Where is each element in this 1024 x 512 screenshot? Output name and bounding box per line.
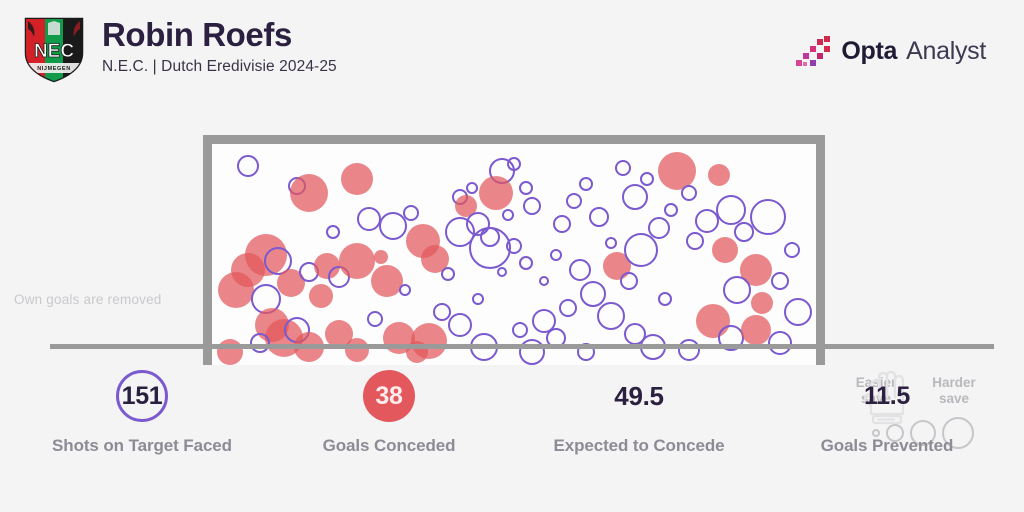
shot-bubble-save — [615, 160, 631, 176]
shot-bubble-save — [553, 215, 571, 233]
shot-bubble-save — [512, 322, 528, 338]
shot-bubble-save — [357, 207, 381, 231]
shot-bubble-save — [734, 222, 754, 242]
goalkeeper-shot-map-infographic: NEC NIJMEGEN Robin Roefs N.E.C. | Dutch … — [0, 0, 1024, 512]
shot-bubble-save — [664, 203, 678, 217]
shot-bubble-save — [784, 242, 800, 258]
stat-value: 49.5 — [614, 381, 663, 412]
shot-bubble-save — [716, 195, 746, 225]
shot-bubble-goal — [374, 250, 388, 264]
shot-bubble-save — [640, 172, 654, 186]
page-title: Robin Roefs — [102, 16, 337, 54]
stat-ring-badge: 151 — [116, 370, 168, 422]
shot-bubble-save — [367, 311, 383, 327]
shot-bubble-goal — [479, 176, 513, 210]
stat-card-3: 11.5Goals Prevented — [727, 368, 1024, 456]
shot-bubble-goal — [309, 284, 333, 308]
shot-bubble-save — [441, 267, 455, 281]
nec-nijmegen-crest-icon: NEC NIJMEGEN — [22, 13, 86, 83]
shot-bubble-save — [448, 313, 472, 337]
shot-bubble-save — [768, 331, 792, 355]
shot-bubble-save — [326, 225, 340, 239]
shot-bubble-save — [480, 227, 500, 247]
shot-bubble-save — [250, 333, 270, 353]
stat-value-wrap: 11.5 — [727, 368, 1024, 424]
summary-stats-row: 151Shots on Target Faced38Goals Conceded… — [0, 368, 1024, 478]
title-block: Robin Roefs N.E.C. | Dutch Eredivisie 20… — [102, 16, 337, 77]
shot-bubble-save — [539, 276, 549, 286]
shot-bubble-save — [605, 237, 617, 249]
svg-text:NIJMEGEN: NIJMEGEN — [37, 66, 71, 72]
shot-bubble-goal — [658, 152, 696, 190]
shot-bubble-save — [589, 207, 609, 227]
shot-bubble-goal — [371, 265, 403, 297]
shot-bubble-save — [784, 298, 812, 326]
shot-bubble-save — [550, 249, 562, 261]
shot-bubble-save — [569, 259, 591, 281]
shot-bubble-save — [771, 272, 789, 290]
shot-bubble-save — [681, 185, 697, 201]
analyst-wordmark: Analyst — [906, 37, 986, 66]
goal-frame — [203, 135, 825, 365]
shot-bubble-goal — [345, 338, 369, 362]
shot-bubble-save — [658, 292, 672, 306]
shot-bubble-save — [580, 281, 606, 307]
shot-bubble-save — [678, 339, 700, 361]
team-competition-subtitle: N.E.C. | Dutch Eredivisie 2024-25 — [102, 57, 337, 77]
shot-bubble-save — [445, 217, 475, 247]
shot-bubble-save — [686, 232, 704, 250]
shot-bubble-save — [523, 197, 541, 215]
shot-bubble-goal — [290, 174, 328, 212]
stat-value: 11.5 — [864, 382, 910, 411]
shot-bubble-goal — [411, 323, 447, 359]
shot-bubble-save — [566, 193, 582, 209]
own-goals-note: Own goals are removed — [14, 292, 162, 307]
shot-bubble-goal — [339, 243, 375, 279]
stat-filled-badge: 38 — [363, 370, 415, 422]
glove-stat-wrap: 11.5 — [847, 368, 927, 424]
shot-bubble-save — [502, 209, 514, 221]
shot-bubble-save — [472, 293, 484, 305]
stat-label: Goals Prevented — [727, 436, 1024, 456]
shot-bubble-goal — [751, 292, 773, 314]
goal-shot-map: Own goals are removed Easier save Harder… — [0, 120, 1024, 355]
shot-bubble-save — [519, 256, 533, 270]
shot-bubble-save — [466, 182, 478, 194]
shot-bubble-save — [237, 155, 259, 177]
shot-bubble-save — [506, 238, 522, 254]
shot-bubble-save — [750, 199, 786, 235]
shot-bubble-save — [559, 299, 577, 317]
shot-bubble-save — [403, 205, 419, 221]
header: NEC NIJMEGEN Robin Roefs N.E.C. | Dutch … — [0, 0, 1024, 100]
shot-bubble-save — [507, 157, 521, 171]
shot-bubble-goal — [741, 315, 771, 345]
shot-bubble-save — [648, 217, 670, 239]
shot-bubble-save — [497, 267, 507, 277]
svg-text:NEC: NEC — [34, 41, 74, 62]
shot-bubble-save — [519, 181, 533, 195]
shot-bubble-save — [399, 284, 411, 296]
shot-bubble-layer — [212, 144, 816, 365]
opta-squares-icon — [796, 36, 832, 66]
shot-bubble-save — [519, 339, 545, 365]
shot-bubble-goal — [217, 339, 243, 365]
opta-analyst-logo: Opta Analyst — [796, 36, 986, 66]
stat-value: 38 — [375, 382, 402, 411]
shot-bubble-goal — [712, 237, 738, 263]
shot-bubble-save — [620, 272, 638, 290]
shot-bubble-save — [723, 276, 751, 304]
shot-bubble-save — [433, 303, 451, 321]
ground-line — [50, 344, 994, 349]
shot-bubble-save — [622, 184, 648, 210]
shot-bubble-save — [597, 302, 625, 330]
shot-bubble-goal — [341, 163, 373, 195]
shot-bubble-goal — [708, 164, 730, 186]
shot-bubble-goal — [218, 272, 254, 308]
shot-bubble-save — [624, 233, 658, 267]
shot-bubble-save — [579, 177, 593, 191]
stat-value: 151 — [122, 382, 163, 411]
opta-wordmark: Opta — [841, 37, 897, 66]
